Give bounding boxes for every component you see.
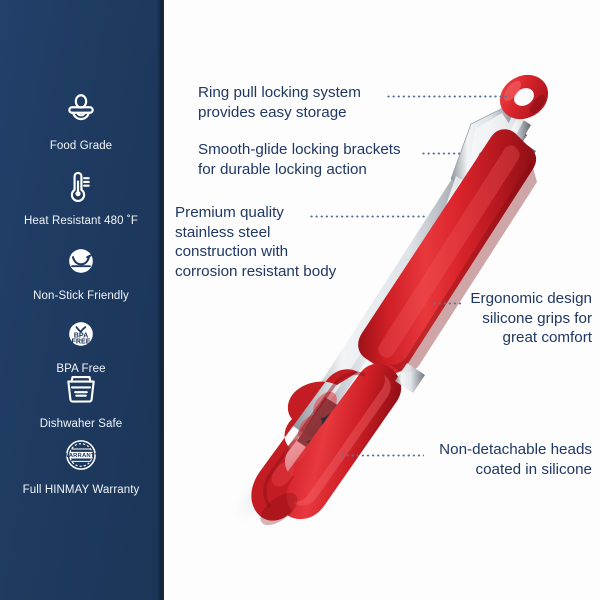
feature-item-non-stick: Non-Stick Friendly — [0, 238, 162, 302]
svg-text:FREE: FREE — [71, 338, 90, 346]
annotation-line: for durable locking action — [198, 160, 401, 180]
bpa-free-badge-icon: BPA FREE — [0, 311, 162, 357]
leader-line-non-detachable — [340, 454, 424, 457]
feature-label: Non-Stick Friendly — [0, 290, 162, 302]
warranty-seal-icon: WARRANTY — [0, 432, 162, 478]
dishwasher-icon — [0, 366, 162, 412]
feature-item-dishwasher-safe: Dishwaher Safe — [0, 366, 162, 430]
infographic-canvas: Food Grade Heat Resistant 480 ˚F — [0, 0, 600, 600]
annotation-line: silicone grips for — [470, 309, 592, 329]
feature-sidebar: Food Grade Heat Resistant 480 ˚F — [0, 0, 162, 600]
annotation-ergonomic-grips: Ergonomic design silicone grips for grea… — [470, 289, 592, 348]
annotation-premium-quality: Premium quality stainless steel construc… — [175, 203, 336, 281]
annotation-line: construction with — [175, 242, 336, 262]
annotation-locking-brackets: Smooth-glide locking brackets for durabl… — [198, 140, 401, 179]
annotation-line: Non-detachable heads — [439, 440, 592, 460]
annotation-line: great comfort — [470, 328, 592, 348]
annotation-line: Smooth-glide locking brackets — [198, 140, 401, 160]
annotation-non-detachable-heads: Non-detachable heads coated in silicone — [439, 440, 592, 479]
feature-item-food-grade: Food Grade — [0, 88, 162, 152]
leader-line-ring-pull — [386, 95, 510, 98]
feature-item-heat-resistant: Heat Resistant 480 ˚F — [0, 163, 162, 227]
feature-label: Food Grade — [0, 140, 162, 152]
feature-label: Full HINMAY Warranty — [0, 484, 162, 496]
annotation-ring-pull: Ring pull locking system provides easy s… — [198, 83, 361, 122]
feature-label: Dishwaher Safe — [0, 418, 162, 430]
annotation-line: Ring pull locking system — [198, 83, 361, 103]
leader-line-ergonomic — [432, 302, 462, 305]
annotation-line: Premium quality — [175, 203, 336, 223]
svg-text:WARRANTY: WARRANTY — [63, 453, 98, 459]
pacifier-icon — [0, 88, 162, 134]
feature-item-warranty: WARRANTY Full HINMAY Warranty — [0, 432, 162, 496]
annotation-line: coated in silicone — [439, 460, 592, 480]
annotation-line: corrosion resistant body — [175, 262, 336, 282]
feature-label: Heat Resistant 480 ˚F — [0, 215, 162, 227]
thermometer-icon — [0, 163, 162, 209]
leader-line-locking-brackets — [421, 152, 463, 155]
annotation-line: provides easy storage — [198, 103, 361, 123]
annotation-line: Ergonomic design — [470, 289, 592, 309]
non-stick-pan-icon — [0, 238, 162, 284]
annotation-line: stainless steel — [175, 223, 336, 243]
